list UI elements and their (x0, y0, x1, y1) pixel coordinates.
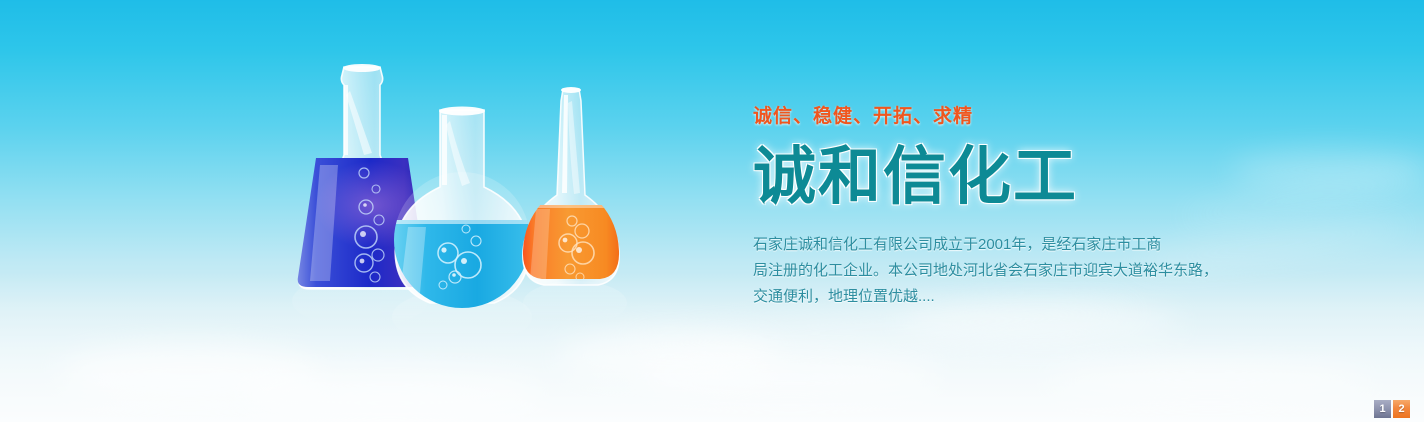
cloud-shape (1050, 360, 1370, 400)
hero-copy: 诚信、稳健、开拓、求精 诚和信化工 石家庄诚和信化工有限公司成立于2001年，是… (753, 104, 1313, 310)
company-description: 石家庄诚和信化工有限公司成立于2001年，是经石家庄市工商 局注册的化工企业。本… (753, 232, 1313, 310)
pagination-dot-2[interactable]: 2 (1393, 400, 1410, 418)
tagline: 诚信、稳健、开拓、求精 (753, 104, 1313, 130)
round-bottom-flask (390, 107, 535, 317)
cloud-shape (240, 370, 540, 418)
description-line: 交通便利，地理位置优越.... (753, 284, 1313, 310)
pagination-dot-1[interactable]: 1 (1374, 400, 1391, 418)
description-line: 石家庄诚和信化工有限公司成立于2001年，是经石家庄市工商 (753, 232, 1313, 258)
chemistry-flasks-illustration (280, 55, 640, 355)
description-line: 局注册的化工企业。本公司地处河北省会石家庄市迎宾大道裕华东路， (753, 258, 1313, 284)
page-title: 诚和信化工 (753, 138, 1313, 216)
hero-banner: 诚信、稳健、开拓、求精 诚和信化工 石家庄诚和信化工有限公司成立于2001年，是… (0, 0, 1424, 422)
slide-pagination[interactable]: 1 2 (1374, 400, 1410, 418)
volumetric-flask (518, 87, 628, 291)
cloud-shape (640, 352, 940, 398)
